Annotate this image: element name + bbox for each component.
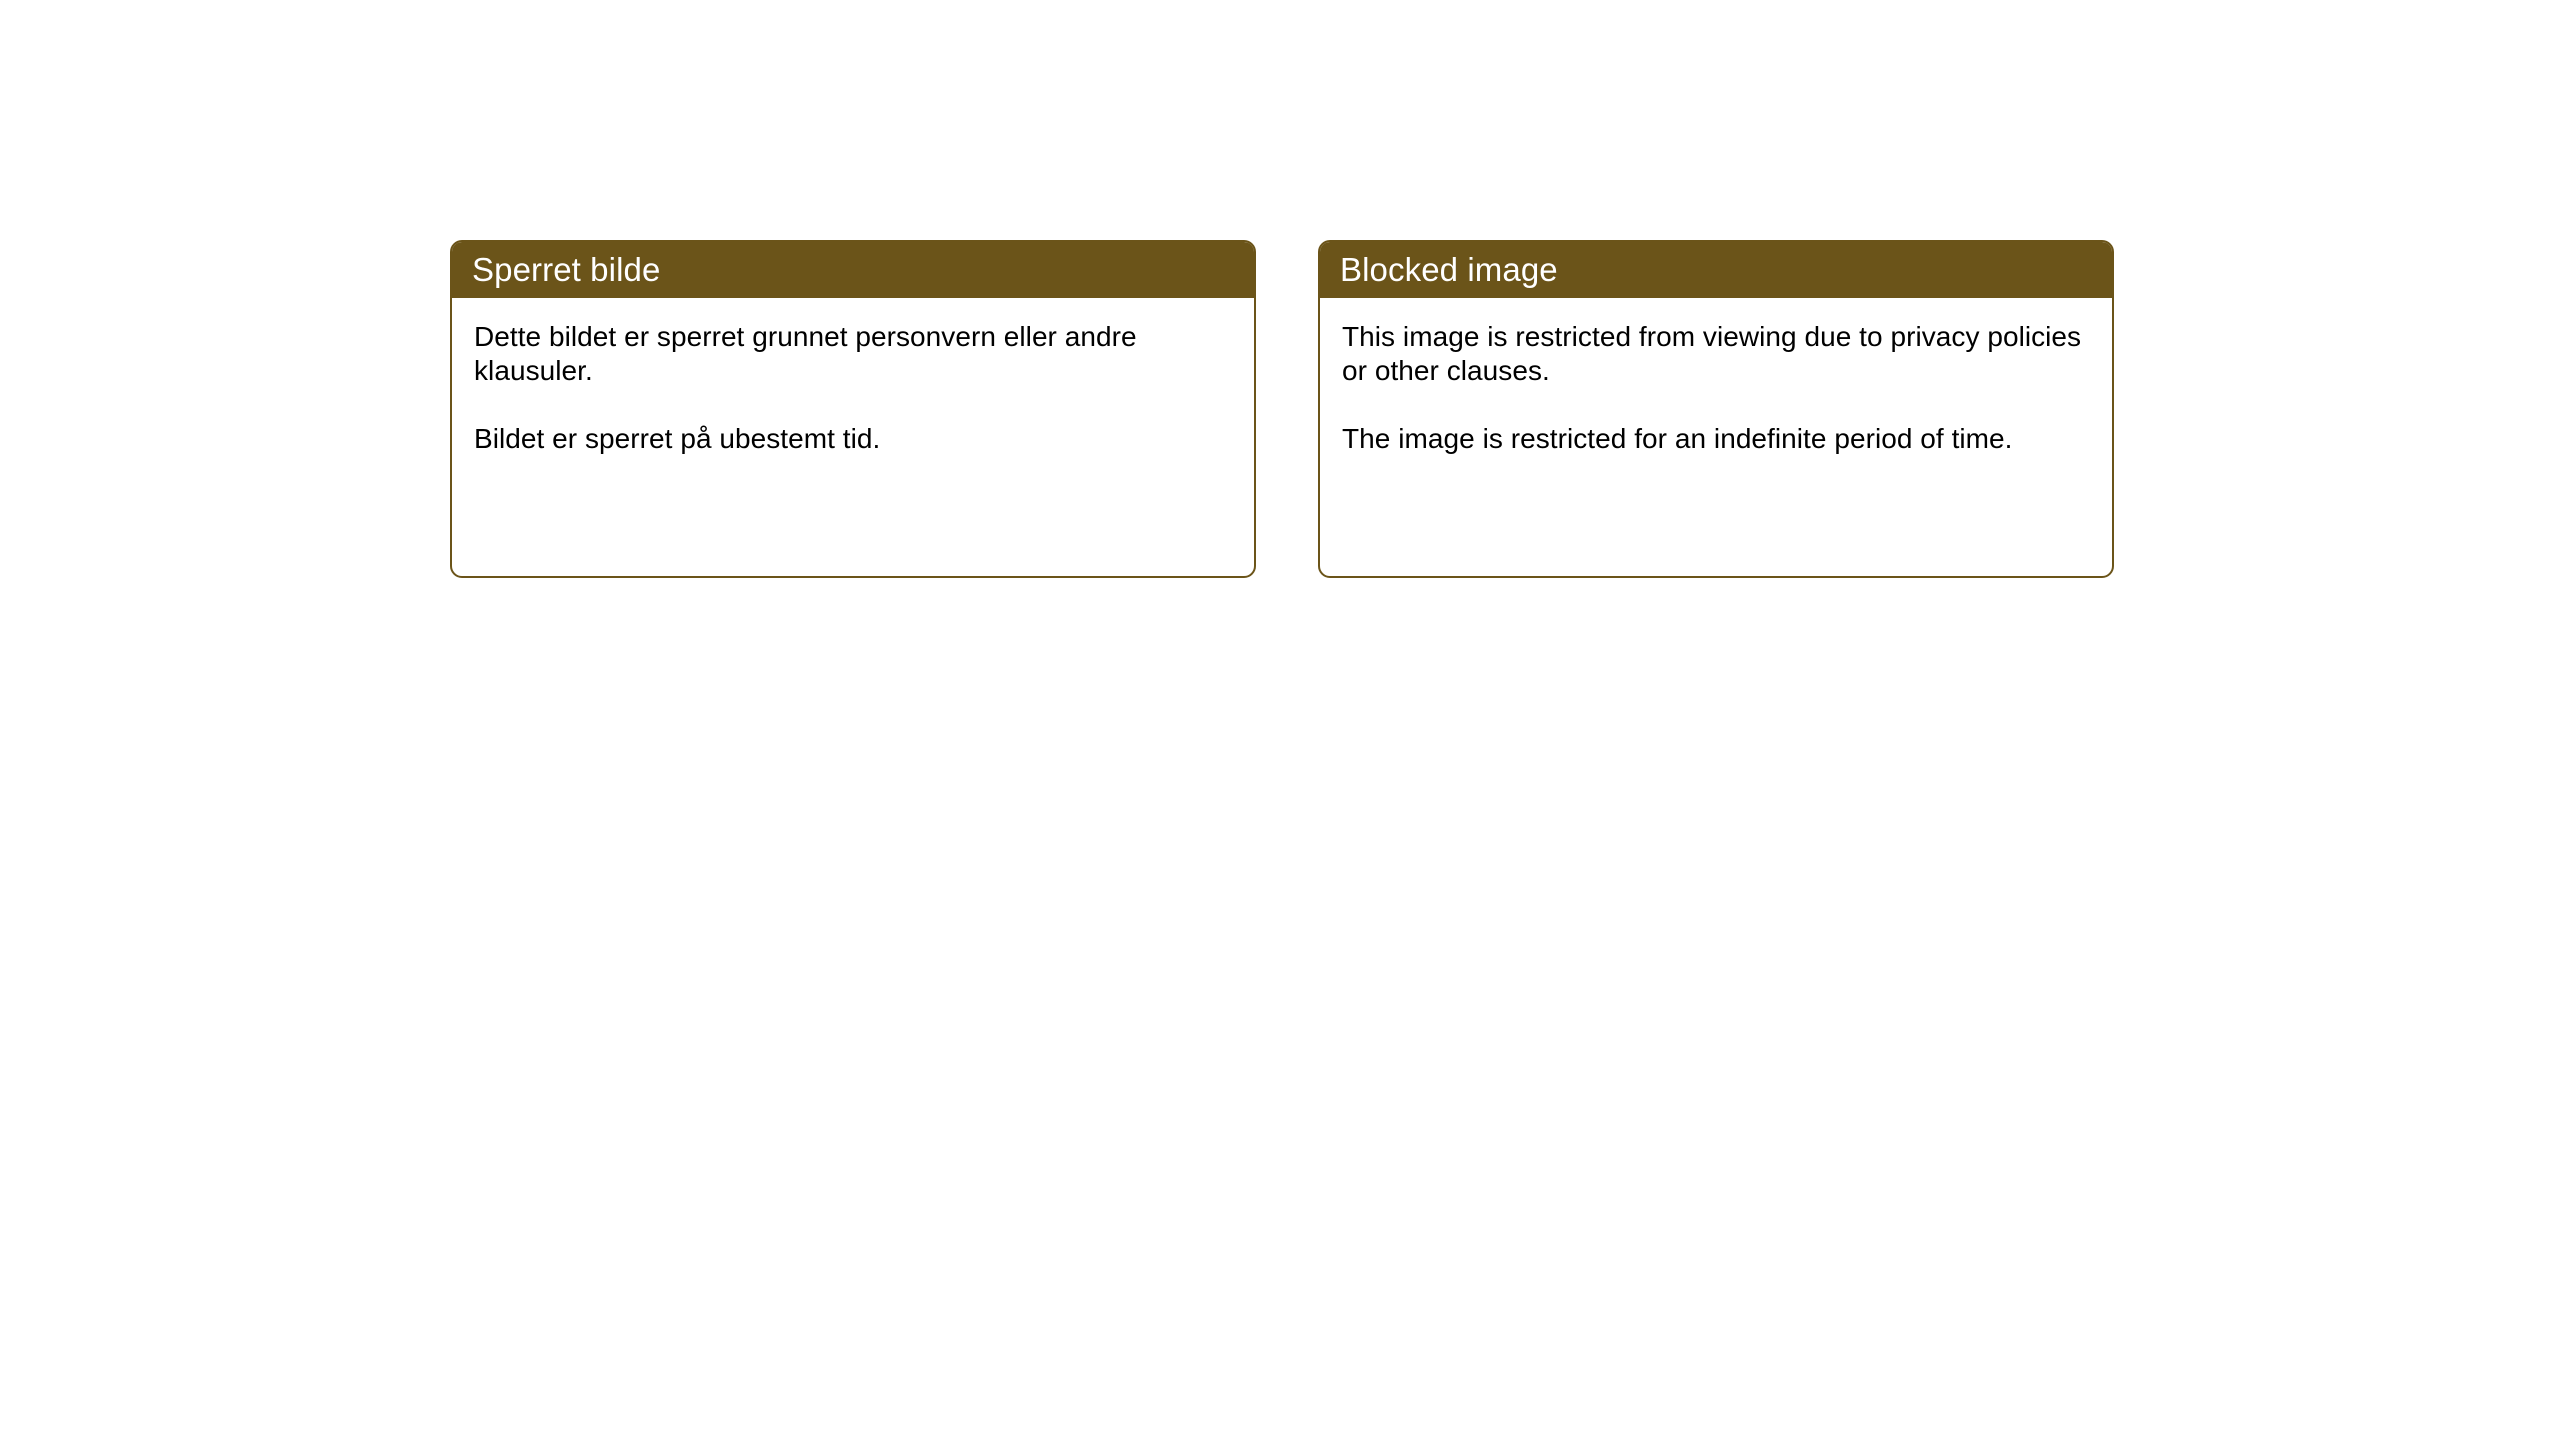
notice-body-norwegian: Dette bildet er sperret grunnet personve…: [452, 298, 1254, 576]
notice-paragraph-duration-english: The image is restricted for an indefinit…: [1342, 422, 2088, 456]
notice-paragraph-reason-english: This image is restricted from viewing du…: [1342, 320, 2088, 388]
notice-body-english: This image is restricted from viewing du…: [1320, 298, 2112, 576]
notice-paragraph-reason-norwegian: Dette bildet er sperret grunnet personve…: [474, 320, 1230, 388]
notice-header-norwegian: Sperret bilde: [450, 240, 1256, 298]
notice-header-english: Blocked image: [1318, 240, 2114, 298]
notice-paragraph-duration-norwegian: Bildet er sperret på ubestemt tid.: [474, 422, 1230, 456]
blocked-image-notice-norwegian: Sperret bilde Dette bildet er sperret gr…: [450, 240, 1256, 578]
notice-title-norwegian: Sperret bilde: [472, 253, 660, 286]
notice-title-english: Blocked image: [1340, 253, 1558, 286]
blocked-image-notice-english: Blocked image This image is restricted f…: [1318, 240, 2114, 578]
page-canvas: Sperret bilde Dette bildet er sperret gr…: [0, 0, 2560, 1440]
